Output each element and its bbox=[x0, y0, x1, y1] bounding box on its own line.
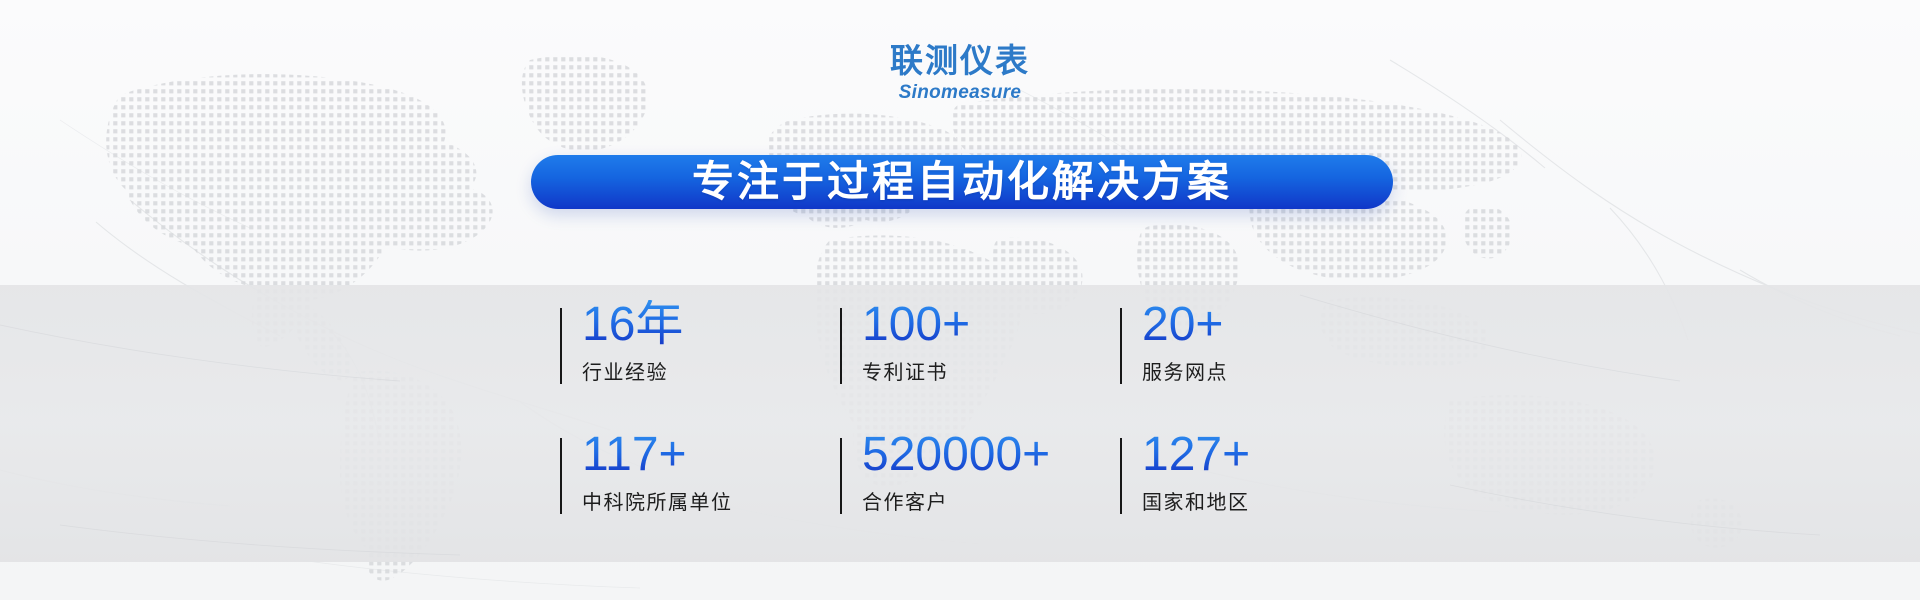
stat-separator-bar bbox=[560, 438, 562, 514]
stat-label: 服务网点 bbox=[1142, 356, 1360, 385]
brand-logo: 联测仪表 Sinomeasure bbox=[0, 44, 1920, 102]
stat-separator-bar bbox=[1120, 438, 1122, 514]
stat-label: 中科院所属单位 bbox=[582, 486, 840, 515]
stat-separator-bar bbox=[1120, 308, 1122, 384]
stat-item-patents: 100+ 专利证书 bbox=[840, 300, 1120, 430]
stat-value: 100+ bbox=[862, 300, 1120, 350]
promo-banner: 联测仪表 Sinomeasure 专注于过程自动化解决方案 16年 行业经验 1… bbox=[0, 0, 1920, 600]
stat-value: 117+ bbox=[582, 430, 840, 480]
brand-name-en: Sinomeasure bbox=[0, 83, 1920, 102]
stat-item-service-outlets: 20+ 服务网点 bbox=[1120, 300, 1360, 430]
brand-name-cn: 联测仪表 bbox=[0, 44, 1920, 77]
stat-separator-bar bbox=[840, 308, 842, 384]
stat-separator-bar bbox=[840, 438, 842, 514]
stat-item-years-experience: 16年 行业经验 bbox=[560, 300, 840, 430]
stat-item-countries: 127+ 国家和地区 bbox=[1120, 430, 1360, 560]
stat-value: 127+ bbox=[1142, 430, 1360, 480]
stat-label: 合作客户 bbox=[862, 486, 1120, 515]
stat-label: 国家和地区 bbox=[1142, 486, 1360, 515]
stat-separator-bar bbox=[560, 308, 562, 384]
stat-value: 20+ bbox=[1142, 300, 1360, 350]
statistics-grid: 16年 行业经验 100+ 专利证书 20+ 服务网点 117+ 中科院所属单位… bbox=[560, 300, 1360, 560]
stat-value: 520000+ bbox=[862, 430, 1120, 480]
stat-label: 专利证书 bbox=[862, 356, 1120, 385]
headline-text: 专注于过程自动化解决方案 bbox=[692, 161, 1232, 203]
stat-value: 16年 bbox=[582, 300, 840, 350]
stat-label: 行业经验 bbox=[582, 356, 840, 385]
headline-pill: 专注于过程自动化解决方案 bbox=[531, 155, 1393, 209]
stat-item-cas-units: 117+ 中科院所属单位 bbox=[560, 430, 840, 560]
stat-item-customers: 520000+ 合作客户 bbox=[840, 430, 1120, 560]
